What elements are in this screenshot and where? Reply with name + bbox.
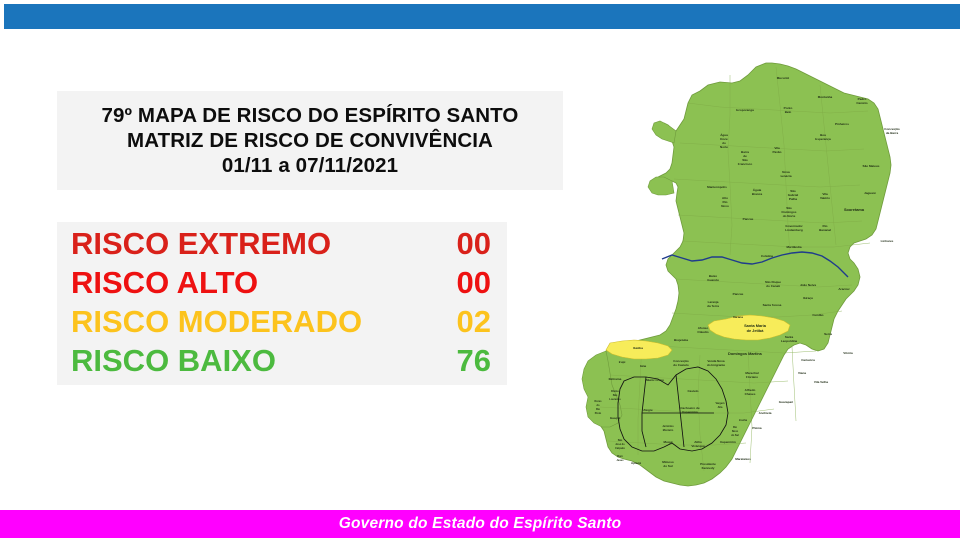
- legend-label: RISCO ALTO: [71, 263, 258, 302]
- municipality-label: José do: [615, 443, 625, 446]
- municipality-label: Calçado: [615, 447, 625, 450]
- municipality-label: da Barra: [886, 131, 899, 135]
- municipality-label: Anchieta: [759, 411, 772, 415]
- municipality-label: Pavão: [773, 150, 782, 154]
- municipality-label: Pancas: [743, 217, 754, 221]
- municipality-label: Palha: [789, 197, 797, 201]
- municipality-label: Chaves: [745, 392, 756, 396]
- municipality-label: Canário: [856, 101, 867, 105]
- municipality-label: Iúna: [640, 364, 647, 368]
- municipality-label: Serra: [824, 332, 832, 336]
- state-northwest-detail: [652, 121, 676, 143]
- risk-legend-panel: RISCO EXTREMO 00 RISCO ALTO 00 RISCO MOD…: [57, 222, 507, 385]
- municipality-label: Branca: [752, 192, 763, 196]
- municipality-label: Fundão: [812, 313, 823, 317]
- municipality-label: Jerônimo: [662, 425, 674, 428]
- municipality-label: Guarapari: [779, 400, 794, 404]
- legend-label: RISCO BAIXO: [71, 341, 276, 380]
- municipality-label: Castelo: [687, 389, 698, 393]
- municipality-label: Esperança: [815, 137, 831, 141]
- municipality-label: do Castelo: [673, 363, 689, 367]
- municipality-label: do Canaã: [766, 284, 780, 288]
- municipality-label: do Imigrante: [707, 363, 726, 367]
- municipality-label: Alegre: [643, 408, 653, 412]
- municipality-label: Belo: [785, 110, 792, 114]
- municipality-label: Marilândia: [786, 245, 801, 249]
- municipality-label: do: [596, 404, 600, 407]
- municipality-label: da Terra: [707, 304, 719, 308]
- municipality-label: Domingos Martins: [728, 351, 762, 356]
- legend-row-risco-extremo: RISCO EXTREMO 00: [57, 224, 507, 263]
- municipality-label: Marataízes: [735, 457, 751, 461]
- municipality-label: Iconha: [739, 419, 748, 422]
- municipality-label: Itapemirim: [682, 410, 698, 414]
- title-line-1: 79º MAPA DE RISCO DO ESPÍRITO SANTO: [102, 103, 519, 128]
- municipality-label: do Sul: [663, 464, 672, 468]
- municipality-label: Brejetuba: [674, 338, 688, 342]
- espirito-santo-risk-map: MucuriciMontanhaPedroCanárioEcoporangaPo…: [540, 55, 960, 495]
- municipality-label: Irupi: [619, 360, 626, 364]
- municipality-label: Lourenço: [609, 398, 621, 401]
- municipality-label: Ecoporanga: [736, 108, 754, 112]
- municipality-label: Muqui: [664, 440, 673, 444]
- municipality-label: Jesus: [616, 459, 624, 462]
- municipality-label: Leopoldina: [781, 339, 798, 343]
- municipality-label: Rio: [596, 408, 601, 411]
- municipality-label: Sooretama: [844, 207, 865, 212]
- municipality-label: Novo: [721, 204, 729, 208]
- legend-count: 00: [457, 263, 497, 302]
- municipality-label: Vivácqua: [691, 444, 705, 448]
- municipality-label: São: [618, 439, 623, 442]
- municipality-label: Rio: [733, 426, 738, 429]
- municipality-label: Preto: [595, 412, 602, 415]
- legend-count: 02: [457, 302, 497, 341]
- municipality-label: Linhares: [881, 239, 894, 243]
- municipality-label: Valério: [820, 196, 830, 200]
- municipality-label: Ibatiba: [633, 346, 643, 350]
- municipality-label: Vitória: [843, 351, 853, 355]
- municipality-label: Guaçuí: [610, 416, 620, 420]
- municipality-label: venécia: [780, 174, 791, 178]
- legend-row-risco-alto: RISCO ALTO 00: [57, 263, 507, 302]
- legend-label: RISCO EXTREMO: [71, 224, 331, 263]
- municipality-label: Viana: [798, 371, 806, 375]
- municipality-label: do Sul: [731, 434, 739, 437]
- legend-count: 00: [457, 224, 497, 263]
- municipality-label: Ibiraçu: [803, 296, 813, 300]
- municipality-label: Novo: [732, 430, 739, 433]
- municipality-label: Ibitirama: [609, 377, 622, 381]
- municipality-label: Colatina: [761, 254, 773, 258]
- municipality-label: Apiacá: [631, 461, 641, 465]
- municipality-label: Monteiro: [663, 429, 674, 432]
- municipality-label: Pinheiros: [835, 122, 849, 126]
- municipality-label: Santa Teresa: [763, 303, 782, 307]
- municipality-label: Vargem: [715, 402, 725, 405]
- municipality-label: Dores: [594, 400, 602, 403]
- municipality-label: São: [613, 394, 618, 397]
- municipality-label: Jaguaré: [864, 191, 876, 195]
- municipality-label: Cariacica: [801, 358, 815, 362]
- municipality-label: Floriano: [746, 375, 758, 379]
- legend-label: RISCO MODERADO: [71, 302, 362, 341]
- municipality-label: Francisco: [738, 162, 753, 166]
- municipality-label: Bananal: [819, 228, 831, 232]
- title-line-3: 01/11 a 07/11/2021: [222, 153, 398, 178]
- municipality-label: Bom: [617, 455, 623, 458]
- municipality-label: Mantenópolis: [707, 185, 727, 189]
- top-blue-bar: [4, 4, 960, 29]
- footer-text: Governo do Estado do Espírito Santo: [339, 515, 622, 533]
- municipality-label: do Norte: [783, 214, 796, 218]
- municipality-label: Norte: [720, 145, 728, 149]
- municipality-label: Vila Velha: [814, 380, 828, 384]
- municipality-label: Lindemberg: [785, 228, 803, 232]
- municipality-label: de Jetibá: [747, 328, 765, 333]
- legend-count: 76: [457, 341, 497, 380]
- municipality-label: João Neiva: [800, 283, 816, 287]
- municipality-label: Mucurici: [777, 76, 790, 80]
- municipality-label: Itapemirim: [720, 440, 736, 444]
- title-panel: 79º MAPA DE RISCO DO ESPÍRITO SANTO MATR…: [57, 91, 563, 190]
- municipality-label: Itarana: [733, 315, 743, 319]
- legend-row-risco-baixo: RISCO BAIXO 76: [57, 341, 507, 380]
- municipality-label: Pancas: [733, 292, 744, 296]
- legend-row-risco-moderado: RISCO MODERADO 02: [57, 302, 507, 341]
- municipality-label: São Mateus: [863, 164, 880, 168]
- municipality-label: Montanha: [818, 95, 833, 99]
- footer-bar: Governo do Estado do Espírito Santo: [0, 510, 960, 538]
- municipality-label: Cláudio: [697, 330, 708, 334]
- municipality-label: Piúma: [752, 426, 761, 430]
- municipality-label: Divino: [611, 390, 619, 393]
- municipality-label: Alta: [718, 406, 723, 409]
- title-line-2: MATRIZ DE RISCO DE CONVIVÊNCIA: [127, 128, 493, 153]
- municipality-label: Guandu: [707, 278, 719, 282]
- municipality-label: Kennedy: [702, 466, 715, 470]
- municipality-label: Muniz Freire: [646, 378, 664, 382]
- slide-root: 79º MAPA DE RISCO DO ESPÍRITO SANTO MATR…: [0, 0, 960, 540]
- municipality-label: Aracruz: [838, 287, 850, 291]
